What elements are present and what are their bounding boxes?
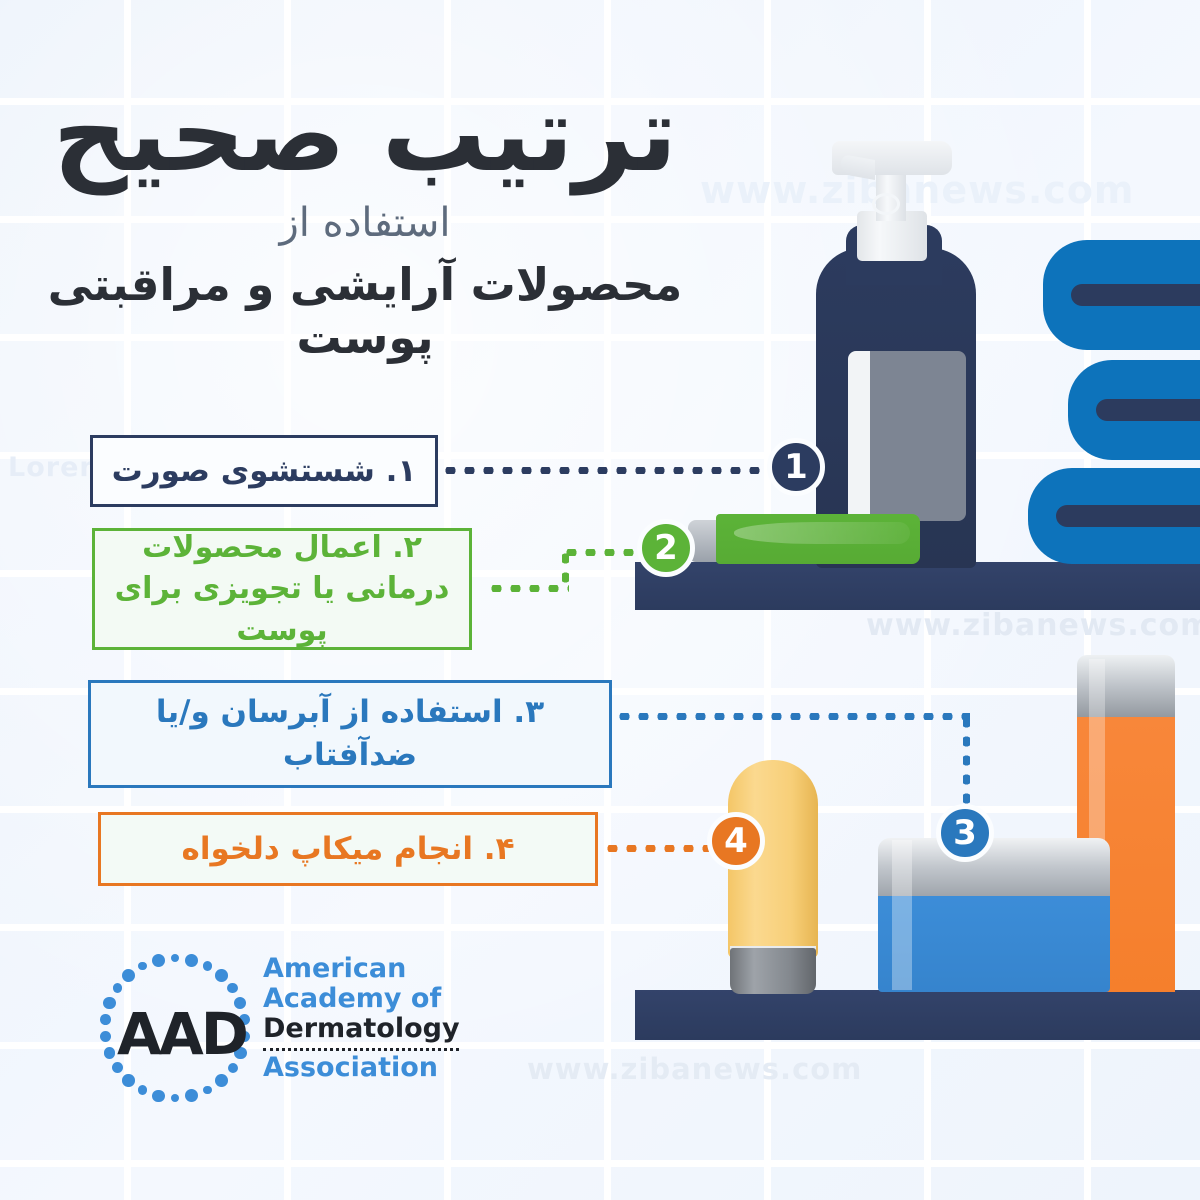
upper-shelf xyxy=(635,562,1200,610)
infographic-poster: www.zibanews.com Lorem www.zibanews.com … xyxy=(0,0,1200,1200)
blue-jar-illustration xyxy=(878,838,1110,992)
aad-logo: AAD American Academy of Dermatology Asso… xyxy=(95,948,465,1108)
towel-middle xyxy=(1068,360,1200,460)
step-badge-4[interactable]: 4 xyxy=(707,812,765,870)
pump-bottle-head xyxy=(832,141,952,175)
connector-line-2-lower xyxy=(487,585,569,592)
page-subtitle: استفاده از xyxy=(35,200,695,246)
logo-aad-mark: AAD xyxy=(117,1000,246,1068)
green-tube-highlight xyxy=(734,522,910,544)
step-box-4[interactable]: ۴. انجام میکاپ دلخواه xyxy=(98,812,598,886)
watermark-bottom: www.zibanews.com xyxy=(527,1052,862,1086)
step-badge-2[interactable]: 2 xyxy=(637,519,695,577)
connector-line-2-vertical xyxy=(562,549,569,589)
blue-jar-highlight xyxy=(892,840,912,990)
step-box-2[interactable]: ۲. اعمال محصولات درمانی یا تجویزی برای پ… xyxy=(92,528,472,650)
logo-divider xyxy=(263,1048,459,1051)
page-subtitle-bold: محصولات آرایشی و مراقبتی پوست xyxy=(35,258,695,364)
yellow-tube-cap xyxy=(730,948,816,994)
connector-line-3 xyxy=(615,713,970,720)
step-badge-3[interactable]: 3 xyxy=(936,804,994,862)
towel-top xyxy=(1043,240,1200,350)
yellow-tube-illustration xyxy=(728,760,818,992)
page-title: ترتیب صحیح xyxy=(35,78,695,190)
lower-shelf xyxy=(635,990,1200,1040)
pump-bottle-illustration xyxy=(806,133,981,568)
logo-line-american: American xyxy=(263,954,473,984)
logo-line-dermatology: Dermatology xyxy=(263,1014,473,1044)
logo-line-academy: Academy of xyxy=(263,984,473,1014)
logo-line-association: Association xyxy=(263,1053,473,1083)
step-box-3[interactable]: ۳. استفاده از آبرسان و/یا ضدآفتاب xyxy=(88,680,612,788)
blue-jar-body xyxy=(878,896,1110,992)
green-tube-illustration xyxy=(688,508,920,564)
logo-wordmark: American Academy of Dermatology Associat… xyxy=(263,954,473,1083)
pump-bottle-label xyxy=(848,351,966,521)
watermark-middle: www.zibanews.com xyxy=(866,608,1200,643)
blue-jar-lid xyxy=(878,838,1110,900)
step-badge-1[interactable]: 1 xyxy=(767,438,825,496)
towel-bottom xyxy=(1028,468,1200,564)
step-box-1[interactable]: ۱. شستشوی صورت xyxy=(90,435,438,507)
connector-line-1 xyxy=(441,467,771,474)
headline-block: ترتیب صحیح استفاده از محصولات آرایشی و م… xyxy=(35,78,695,364)
pump-bottle-spout xyxy=(841,154,875,180)
pump-bottle-ring xyxy=(872,193,900,215)
